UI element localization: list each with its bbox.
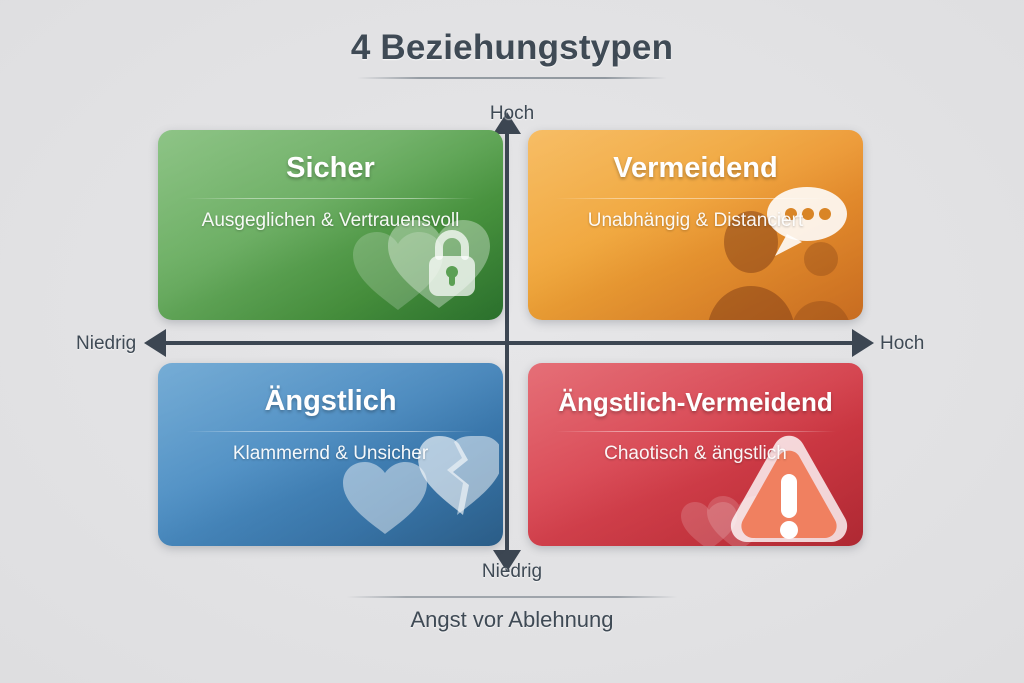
card-divider-secure bbox=[186, 198, 476, 199]
axis-label-right: Hoch bbox=[880, 333, 924, 355]
bottom-divider bbox=[347, 596, 677, 598]
x-axis-caption: Angst vor Ablehnung bbox=[0, 607, 1024, 633]
quadrant-card-secure[interactable]: Sicher Ausgeglichen & Vertrauensvoll bbox=[158, 130, 503, 320]
axis-label-top: Hoch bbox=[0, 103, 1024, 125]
person-speech-bubble-icon bbox=[679, 184, 859, 320]
card-divider-anxious bbox=[186, 431, 476, 432]
quadrant-subtitle-avoidant: Unabhängig & Distanciert bbox=[528, 210, 863, 232]
diagram-canvas: 4 Beziehungstypen Hoch Niedrig Niedrig H… bbox=[0, 0, 1024, 683]
card-divider-avoidant bbox=[555, 198, 836, 199]
quadrant-subtitle-fearful: Chaotisch & ängstlich bbox=[528, 443, 863, 465]
quadrant-title-fearful: Ängstlich-Vermeidend bbox=[528, 387, 863, 418]
horizontal-axis-line bbox=[163, 341, 855, 345]
quadrant-title-anxious: Ängstlich bbox=[158, 385, 503, 418]
quadrant-title-avoidant: Vermeidend bbox=[528, 152, 863, 185]
quadrant-card-anxious[interactable]: Ängstlich Klammernd & Unsicher bbox=[158, 363, 503, 546]
quadrant-title-secure: Sicher bbox=[158, 152, 503, 185]
axis-label-bottom: Niedrig bbox=[0, 561, 1024, 583]
quadrant-subtitle-anxious: Klammernd & Unsicher bbox=[158, 443, 503, 465]
quadrant-subtitle-secure: Ausgeglichen & Vertrauensvoll bbox=[158, 210, 503, 232]
page-title: 4 Beziehungstypen bbox=[0, 26, 1024, 70]
quadrant-card-avoidant[interactable]: Vermeidend Unabhängig & Distanciert bbox=[528, 130, 863, 320]
axis-label-left: Niedrig bbox=[76, 333, 136, 355]
page-title-block: 4 Beziehungstypen bbox=[0, 26, 1024, 79]
title-divider bbox=[357, 77, 667, 79]
axis-arrow-right-icon bbox=[852, 329, 874, 357]
quadrant-card-fearful[interactable]: Ängstlich-Vermeidend Chaotisch & ängstli… bbox=[528, 363, 863, 546]
card-divider-fearful bbox=[555, 431, 836, 432]
axis-arrow-left-icon bbox=[144, 329, 166, 357]
heart-lock-icon bbox=[319, 184, 499, 320]
